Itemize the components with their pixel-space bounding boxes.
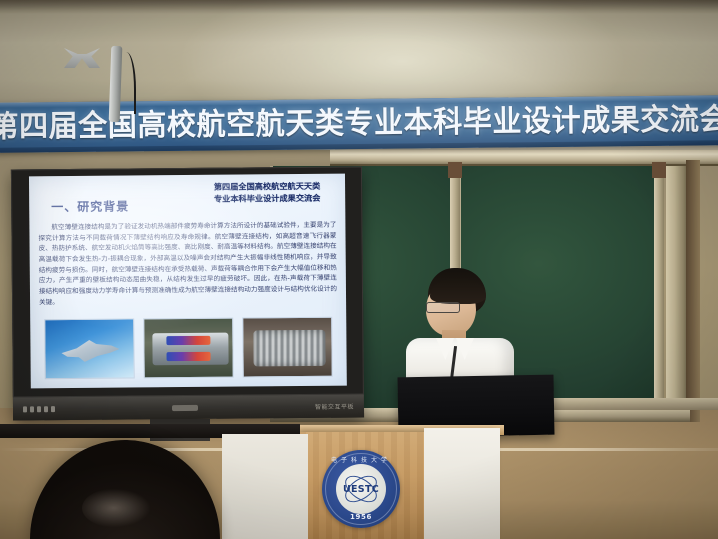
- slide-image-row: [44, 317, 335, 380]
- slide-title: 一、研究背景: [51, 198, 129, 216]
- chalkboard-post-cap-left: [448, 162, 462, 178]
- presentation-slide: 第四届全国高校航空航天天类 专业本科毕业设计成果交流会 一、研究背景 航空薄壁连…: [29, 174, 347, 389]
- foreground-white-panel: [222, 434, 308, 539]
- turbine-shape: [253, 330, 325, 367]
- banner-title-text: 第四届全国高校航空航天类专业本科毕业设计成果交流会: [0, 105, 718, 143]
- chalkboard-post-cap-right: [652, 162, 666, 178]
- logo-uestc-text: UESTC: [343, 484, 379, 495]
- display-power-button[interactable]: [172, 404, 198, 410]
- presentation-room-photo: 第四届全国高校航空航天类专业本科毕业设计成果交流会 第四届全国高校航空航天天类 …: [0, 0, 718, 539]
- slide-header: 第四届全国高校航空航天天类 专业本科毕业设计成果交流会: [197, 181, 337, 206]
- slide-body-text: 航空薄壁连接结构是为了验证发动机热端部件疲劳寿命计算方法所设计的基础试验件，主要…: [38, 220, 337, 308]
- logo-year-text: 1956: [322, 513, 400, 521]
- engine-thermal-band-upper: [166, 336, 210, 345]
- chalkboard-right-frame: [666, 166, 688, 416]
- aircraft-shape: [61, 338, 119, 365]
- display-brand-label: 智能交互平板: [315, 402, 354, 411]
- uestc-logo: 电子科技大学 UESTC 1956: [322, 450, 400, 528]
- chalkboard-divider-post-right: [654, 164, 664, 414]
- slide-header-line2: 专业本科毕业设计成果交流会: [197, 193, 337, 206]
- ceiling-shadow: [0, 0, 718, 14]
- slide-image-turbine-engine-assembly: [242, 317, 333, 378]
- event-banner: 第四届全国高校航空航天类专业本科毕业设计成果交流会: [0, 95, 718, 153]
- display-indicator-lights: [23, 406, 55, 412]
- chalk-tray: [545, 398, 718, 410]
- slide-image-hypersonic-aircraft: [44, 318, 135, 379]
- podium-side-panel: [424, 428, 500, 539]
- display-control-bar[interactable]: 智能交互平板: [13, 394, 364, 420]
- glasses-icon: [426, 302, 460, 313]
- slide-header-line1: 第四届全国高校航空航天天类: [197, 181, 337, 194]
- chalkboard-far-frame: [686, 160, 700, 422]
- slide-image-jet-engine-thermal-section: [143, 318, 234, 379]
- upper-wall: [0, 0, 718, 102]
- engine-thermal-band-lower: [167, 352, 211, 361]
- logo-chinese-top: 电子科技大学: [322, 455, 400, 464]
- interactive-display[interactable]: 第四届全国高校航空航天天类 专业本科毕业设计成果交流会 一、研究背景 航空薄壁连…: [11, 166, 364, 420]
- logo-inner-disc: UESTC: [336, 464, 386, 514]
